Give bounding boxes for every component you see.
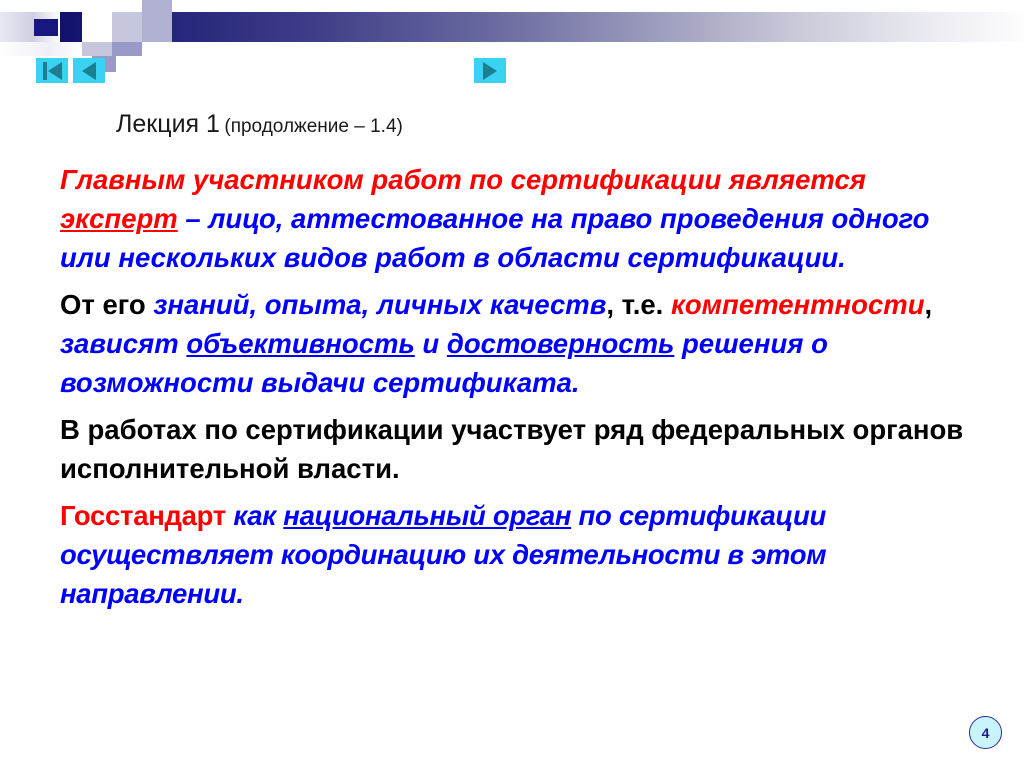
decor-square-navy (34, 19, 58, 36)
p3-black-text: В работах по сертификации участвует ряд … (60, 414, 963, 484)
slide-title-main: Лекция 1 (116, 110, 220, 138)
p1-red-lead: Главным участником работ по сертификации… (60, 164, 866, 195)
triangle-left-icon (48, 62, 62, 80)
decor-square-pale-lower-left (0, 42, 82, 56)
decor-square-lilac-4 (112, 42, 142, 56)
decor-square-lilac-3 (82, 42, 112, 56)
p2-black-mid-2: , (925, 289, 933, 320)
p2-blue-underlined-reliability: достоверность (447, 328, 674, 359)
decor-square-lilac-1 (112, 12, 142, 42)
p2-black-mid-1: , т.е. (606, 289, 671, 320)
p2-blue-and: и (415, 328, 447, 359)
navigation-row: Лекция 1 (продолжение – 1.4) (0, 55, 1024, 95)
p2-black-start: От его (60, 289, 153, 320)
decor-square-white-2 (112, 0, 142, 12)
header-gradient-bar (60, 12, 1024, 42)
next-slide-button[interactable] (474, 58, 506, 83)
paragraph-competence: От его знаний, опыта, личных качеств, т.… (60, 285, 970, 402)
p2-blue-qualities: знаний, опыта, личных качеств (153, 289, 606, 320)
slide-body: Главным участником работ по сертификации… (60, 160, 970, 619)
skip-to-start-bar-icon (43, 62, 47, 80)
paragraph-federal-bodies: В работах по сертификации участвует ряд … (60, 410, 970, 488)
paragraph-gosstandart: Госстандарт как национальный орган по се… (60, 496, 970, 613)
first-slide-button[interactable] (36, 58, 68, 83)
triangle-right-icon (483, 62, 497, 80)
p4-blue-underlined-national-body: национальный орган (283, 500, 571, 531)
p4-red-gosstandart: Госстандарт (60, 500, 226, 531)
p1-red-underlined-expert: эксперт (60, 203, 178, 234)
p2-blue-underlined-objectivity: объективность (186, 328, 414, 359)
paragraph-expert: Главным участником работ по сертификации… (60, 160, 970, 277)
p1-blue-definition: – лицо, аттестованное на право проведени… (60, 203, 929, 273)
slide-title-sub: (продолжение – 1.4) (224, 116, 402, 137)
p4-blue-as: как (226, 500, 283, 531)
previous-slide-button[interactable] (73, 58, 105, 83)
p2-red-competence: компетентности (671, 289, 925, 320)
page-number-badge: 4 (969, 716, 1002, 749)
triangle-left-icon (82, 62, 96, 80)
p2-blue-depend: зависят (60, 328, 186, 359)
decor-square-lilac-2 (142, 0, 172, 42)
slide-title: Лекция 1 (продолжение – 1.4) (116, 110, 403, 139)
decor-square-white-1 (82, 12, 112, 42)
header-decoration-band (0, 0, 1024, 52)
slide: Лекция 1 (продолжение – 1.4) Главным уча… (0, 0, 1024, 767)
